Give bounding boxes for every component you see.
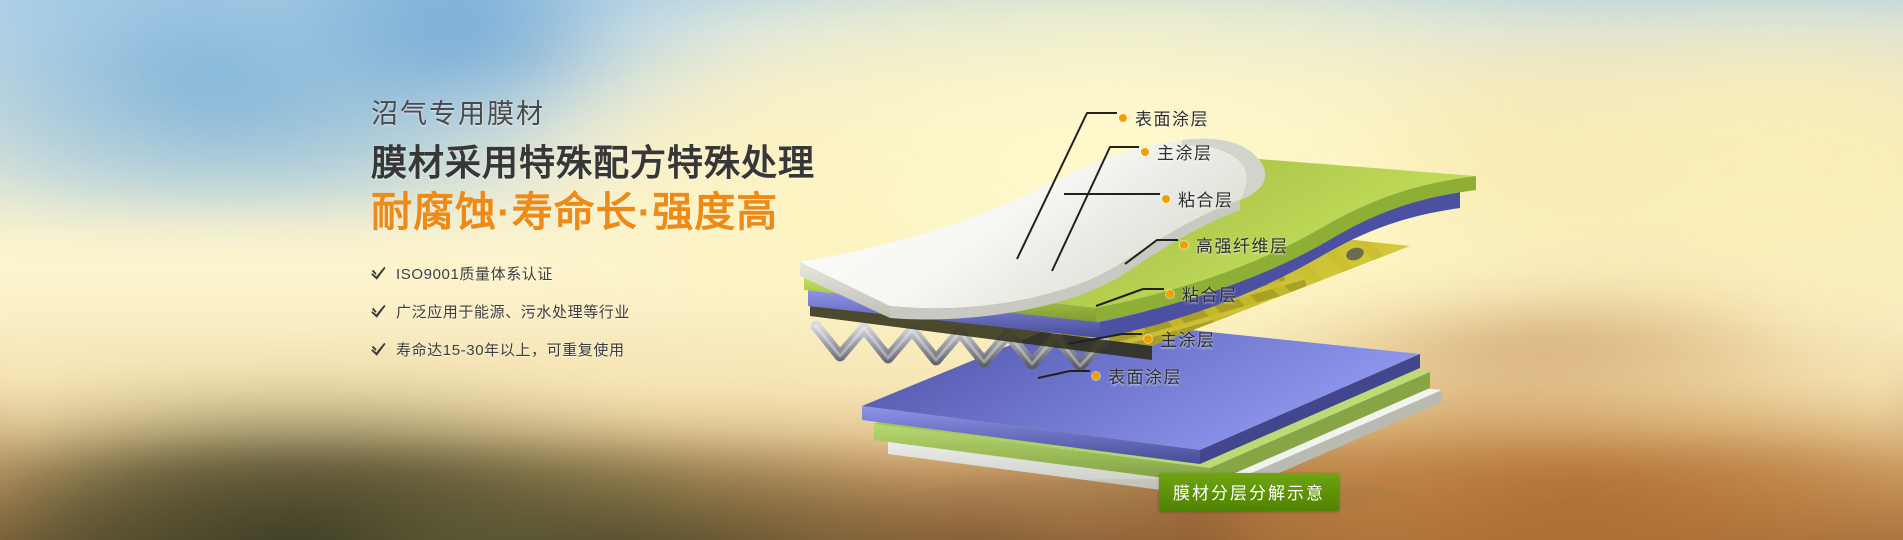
callout-dot-icon <box>1162 195 1170 203</box>
callout-surface-coating-bottom: 表面涂层 <box>1092 363 1182 388</box>
callout-label: 粘合层 <box>1178 186 1234 211</box>
callout-surface-coating-top: 表面涂层 <box>1119 105 1209 130</box>
callout-label: 表面涂层 <box>1135 105 1209 130</box>
callout-dot-icon <box>1144 335 1152 343</box>
list-item-label: 寿命达15-30年以上，可重复使用 <box>396 339 625 360</box>
callout-main-coating-top: 主涂层 <box>1141 139 1213 164</box>
check-icon <box>371 266 386 281</box>
callout-dot-icon <box>1180 241 1188 249</box>
diagram-caption-badge: 膜材分层分解示意 <box>1159 473 1339 511</box>
hero-banner: 沼气专用膜材 膜材采用特殊配方特殊处理 耐腐蚀·寿命长·强度高 ISO9001质… <box>0 0 1903 540</box>
callout-label: 主涂层 <box>1157 139 1213 164</box>
list-item-label: 广泛应用于能源、污水处理等行业 <box>396 301 630 322</box>
callout-dot-icon <box>1141 148 1149 156</box>
check-icon <box>371 304 386 319</box>
callout-dot-icon <box>1092 372 1100 380</box>
callout-adhesive-bottom: 粘合层 <box>1166 281 1238 306</box>
callout-label: 粘合层 <box>1182 281 1238 306</box>
callout-high-strength-fiber: 高强纤维层 <box>1180 232 1289 257</box>
list-item-label: ISO9001质量体系认证 <box>396 263 553 284</box>
callout-label: 主涂层 <box>1160 326 1216 351</box>
callout-dot-icon <box>1166 290 1174 298</box>
check-icon <box>371 342 386 357</box>
callout-dot-icon <box>1119 114 1127 122</box>
callout-label: 表面涂层 <box>1108 363 1182 388</box>
callout-adhesive-top: 粘合层 <box>1162 186 1234 211</box>
callout-label: 高强纤维层 <box>1196 232 1289 257</box>
callout-main-coating-bottom: 主涂层 <box>1144 326 1216 351</box>
